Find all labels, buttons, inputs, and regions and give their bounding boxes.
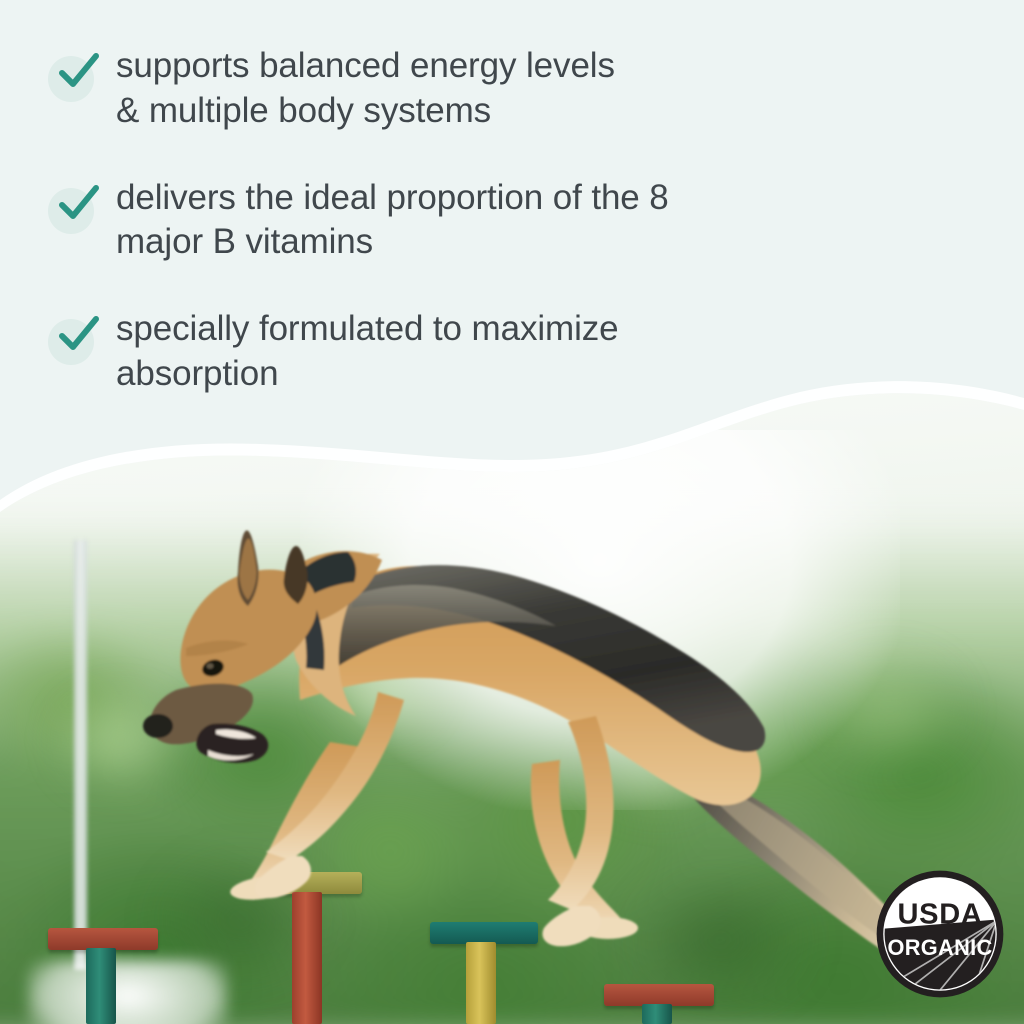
benefit-text: specially formulated to maximize absorpt… <box>116 301 876 397</box>
promo-graphic: supports balanced energy levels & multip… <box>0 0 1024 1024</box>
benefit-text: delivers the ideal proportion of the 8 m… <box>116 170 876 266</box>
check-icon <box>42 301 116 365</box>
benefit-text: supports balanced energy levels & multip… <box>116 38 876 134</box>
check-icon <box>42 38 116 102</box>
benefits-list: supports balanced energy levels & multip… <box>0 0 1024 510</box>
benefit-item-2: delivers the ideal proportion of the 8 m… <box>42 170 984 266</box>
usda-organic-seal: USDA ORGANIC <box>874 868 1006 1000</box>
benefit-item-3: specially formulated to maximize absorpt… <box>42 301 984 397</box>
benefit-item-1: supports balanced energy levels & multip… <box>42 38 984 134</box>
organic-text: ORGANIC <box>887 935 992 960</box>
usda-text: USDA <box>898 898 983 930</box>
check-icon <box>42 170 116 234</box>
